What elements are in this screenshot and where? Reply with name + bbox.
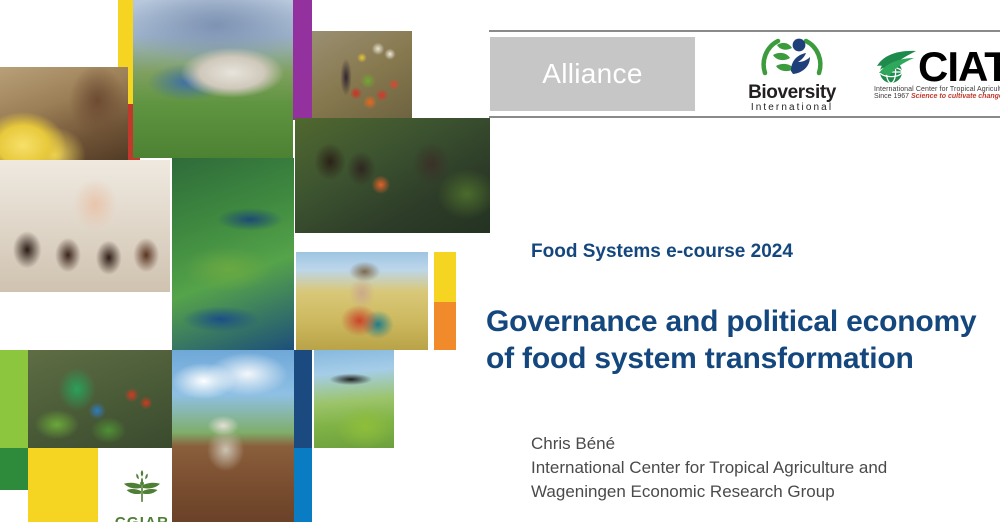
author-block: Chris Béné International Center for Trop… [531,432,991,504]
author-name: Chris Béné [531,432,991,456]
ciat-logo-top: CIAT [874,48,1000,86]
author-affiliation-line-1: International Center for Tropical Agricu… [531,456,991,480]
photo-aerial-river-forest [172,158,294,350]
ciat-tagline-line2: Since 1967 Science to cultivate change [874,93,1000,100]
photo-assorted-vegetables [312,31,412,120]
ciat-since-text: Since 1967 [874,93,909,100]
title-line-2: of food system transformation [486,340,996,377]
ciat-globe-leaf-logo-icon [874,48,918,86]
photo-agricultural-drone [314,350,394,448]
alliance-label: Alliance [542,58,642,90]
photo-woman-with-bananas [0,67,128,167]
accent-block-yellow-bottom [28,448,98,522]
cgiar-wheat-emblem-icon [119,468,165,508]
bioversity-international-logo: Bioversity International [732,35,852,113]
author-affiliation-line-2: Wageningen Economic Research Group [531,480,991,504]
ciat-wordmark: CIAT [918,49,1000,84]
bioversity-wordmark: Bioversity [732,83,852,102]
photo-farmer-planting-seedling [172,350,294,522]
photo-lab-scientist-flasks [0,160,170,292]
accent-block-light-green [0,350,28,448]
cgiar-logo: CGIAR [104,468,180,522]
accent-block-dark-green [0,448,28,490]
page-title: Governance and political economy of food… [486,303,996,377]
bioversity-subtitle: International [732,102,852,113]
cgiar-wordmark: CGIAR [104,514,180,522]
bioversity-leaf-person-logo-icon [755,35,829,77]
title-line-1: Governance and political economy [486,303,996,340]
accent-block-yellow-right [434,252,456,302]
partner-logo-band: Alliance Bioversity International [489,30,1000,118]
presentation-slide: CGIAR Alliance Bioversity International [0,0,1000,522]
ciat-tagline-line1: International Center for Tropical Agricu… [874,86,1000,93]
ciat-slogan-text: Science to cultivate change [911,93,1000,100]
accent-block-orange [434,302,456,350]
photo-farmer-with-cattle [133,0,293,158]
course-eyebrow-text: Food Systems e-course 2024 [531,241,793,263]
alliance-logo-box: Alliance [490,37,695,111]
photo-people-in-field-training [295,118,490,233]
photo-market-vendor-vegetables [28,350,172,448]
accent-block-purple [290,0,312,120]
photo-andean-woman-quinoa [296,252,428,350]
ciat-logo: CIAT International Center for Tropical A… [874,48,1000,100]
